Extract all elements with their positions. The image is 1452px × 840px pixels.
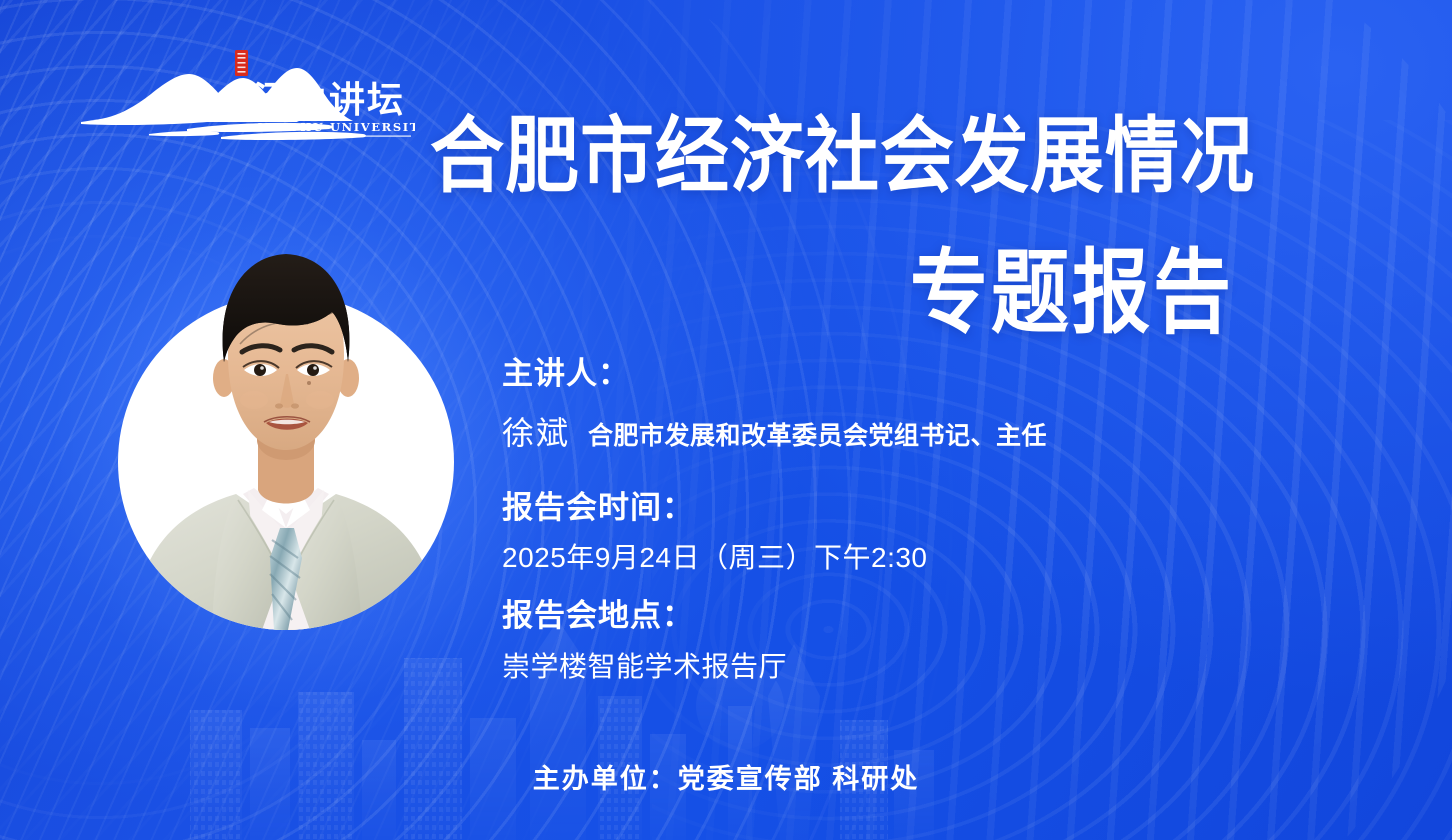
lecture-poster: 汤山讲坛 CHAOHU UNIVERSITY xyxy=(0,0,1452,840)
place-label: 报告会地点： xyxy=(502,590,694,635)
place-value: 崇学楼智能学术报告厅 xyxy=(502,645,787,685)
organizer-footer: 主办单位：党委宣传部 科研处 xyxy=(0,757,1452,796)
speaker-title: 合肥市发展和改革委员会党组书记、主任 xyxy=(588,416,1047,452)
speaker-row: 徐斌 合肥市发展和改革委员会党组书记、主任 xyxy=(502,408,1047,454)
red-seal-icon xyxy=(235,50,248,76)
chaohu-university-logo: 汤山讲坛 CHAOHU UNIVERSITY xyxy=(75,48,415,143)
page-title-line1: 合肥市经济社会发展情况 xyxy=(430,113,1360,200)
speaker-name: 徐斌 xyxy=(502,408,570,454)
logo-underline xyxy=(251,136,411,137)
speaker-label: 主讲人： xyxy=(502,348,630,393)
time-value: 2025年9月24日（周三）下午2:30 xyxy=(502,536,928,576)
logo-name-en: CHAOHU UNIVERSITY xyxy=(255,120,415,134)
time-label: 报告会时间： xyxy=(502,482,694,527)
poster-content: 合肥市经济社会发展情况 专题报告 主讲人： 徐斌 合肥市发展和改革委员会党组书记… xyxy=(502,0,1402,840)
speaker-portrait xyxy=(112,228,464,630)
logo-name-cn: 汤山讲坛 xyxy=(253,80,405,121)
page-title-line2: 专题报告 xyxy=(910,243,1430,342)
